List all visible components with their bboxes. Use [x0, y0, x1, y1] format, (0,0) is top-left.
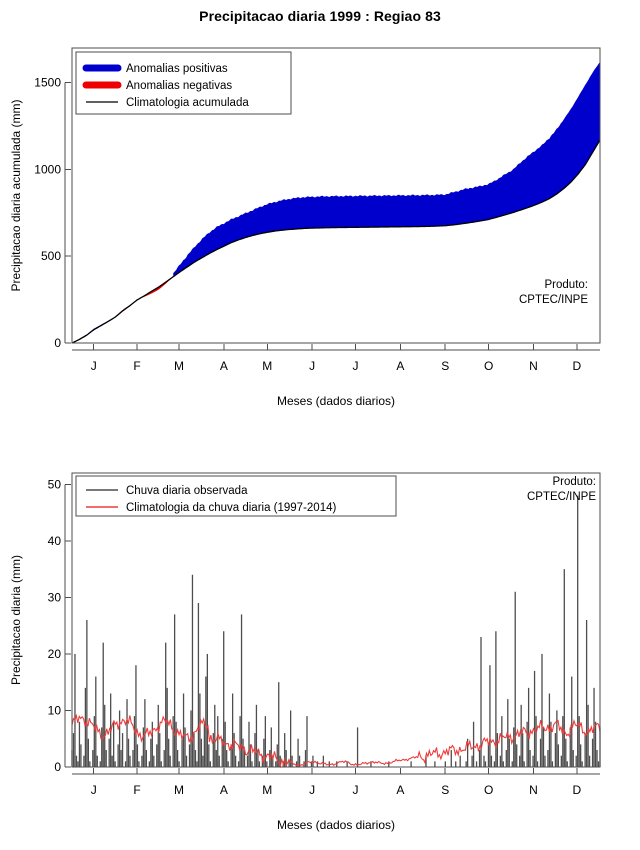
svg-text:0: 0 — [54, 760, 61, 774]
daily-x-axis-label: Meses (dados diarios) — [277, 818, 395, 832]
svg-text:F: F — [133, 783, 140, 797]
svg-text:M: M — [174, 783, 184, 797]
svg-text:M: M — [262, 359, 272, 373]
svg-text:500: 500 — [41, 249, 61, 263]
svg-text:1500: 1500 — [34, 76, 61, 90]
daily-x-axis: JFMAMJJASOND — [72, 768, 600, 797]
svg-text:20: 20 — [48, 647, 62, 661]
accumulated-x-axis-label: Meses (dados diarios) — [277, 394, 395, 408]
daily-y-axis: 01020304050 — [48, 477, 71, 774]
observed-daily-bars — [72, 496, 600, 767]
daily-precipitation-panel: 01020304050 JFMAMJJASOND Precipitacao di… — [0, 450, 640, 850]
svg-text:M: M — [174, 359, 184, 373]
svg-text:A: A — [396, 783, 404, 797]
svg-text:N: N — [529, 783, 538, 797]
svg-text:Anomalias negativas: Anomalias negativas — [126, 80, 232, 92]
svg-text:D: D — [573, 359, 582, 373]
accumulated-y-axis-label: Precipitacao diaria acumulada (mm) — [9, 99, 23, 291]
accumulated-x-axis: JFMAMJJASOND — [72, 344, 600, 373]
svg-text:J: J — [91, 359, 97, 373]
svg-text:Anomalias positivas: Anomalias positivas — [126, 63, 228, 75]
accumulated-precipitation-chart: 050010001500 JFMAMJJASOND Precipitacao d… — [0, 30, 640, 420]
produto-label-line2: CPTEC/INPE — [519, 294, 588, 306]
accumulated-precipitation-panel: 050010001500 JFMAMJJASOND Precipitacao d… — [0, 30, 640, 420]
svg-text:O: O — [484, 359, 493, 373]
svg-text:J: J — [353, 783, 359, 797]
daily-y-axis-label: Precipitacao diaria (mm) — [9, 555, 23, 685]
daily-precipitation-chart: 01020304050 JFMAMJJASOND Precipitacao di… — [0, 450, 640, 850]
svg-text:Climatologia acumulada: Climatologia acumulada — [126, 97, 249, 109]
svg-text:40: 40 — [48, 534, 62, 548]
svg-text:J: J — [309, 359, 315, 373]
svg-text:A: A — [396, 359, 404, 373]
svg-text:A: A — [220, 359, 228, 373]
svg-text:10: 10 — [48, 703, 62, 717]
svg-text:S: S — [441, 359, 449, 373]
accumulated-y-axis: 050010001500 — [34, 76, 71, 350]
svg-text:F: F — [133, 359, 140, 373]
svg-text:0: 0 — [54, 336, 61, 350]
precipitation-report-page: Precipitacao diaria 1999 : Regiao 83 050… — [0, 0, 640, 850]
svg-text:30: 30 — [48, 590, 62, 604]
produto-label-line2: CPTEC/INPE — [527, 491, 596, 503]
produto-label-line1: Produto: — [545, 279, 588, 291]
svg-text:N: N — [529, 359, 538, 373]
produto-label-line1: Produto: — [553, 476, 596, 488]
svg-text:O: O — [484, 783, 493, 797]
page-title: Precipitacao diaria 1999 : Regiao 83 — [0, 8, 640, 24]
accumulated-legend: Anomalias positivasAnomalias negativasCl… — [76, 52, 291, 114]
svg-text:M: M — [262, 783, 272, 797]
daily-legend: Chuva diaria observadaClimatologia da ch… — [76, 476, 396, 516]
svg-text:J: J — [91, 783, 97, 797]
svg-text:S: S — [441, 783, 449, 797]
daily-produto-annotation: Produto: CPTEC/INPE — [527, 476, 596, 503]
svg-text:J: J — [309, 783, 315, 797]
svg-text:Chuva diaria observada: Chuva diaria observada — [126, 485, 248, 497]
svg-text:J: J — [353, 359, 359, 373]
svg-text:Climatologia da chuva diaria (: Climatologia da chuva diaria (1997-2014) — [126, 502, 336, 514]
svg-text:D: D — [573, 783, 582, 797]
accumulated-produto-annotation: Produto: CPTEC/INPE — [519, 279, 588, 306]
svg-text:A: A — [220, 783, 228, 797]
svg-text:1000: 1000 — [34, 162, 61, 176]
svg-text:50: 50 — [48, 477, 62, 491]
